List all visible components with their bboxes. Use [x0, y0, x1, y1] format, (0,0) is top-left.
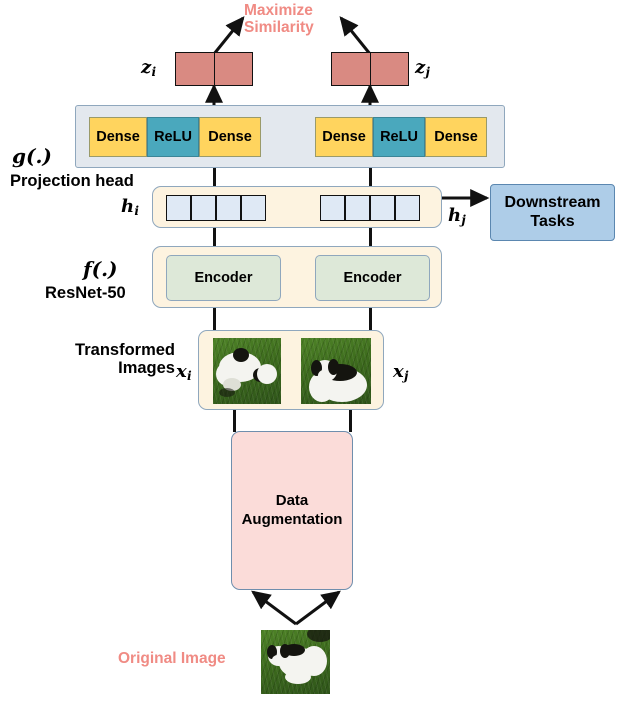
transformed-images-band: [198, 330, 384, 410]
line-image-to-aug-left: [233, 408, 236, 432]
zj-divider: [370, 53, 372, 85]
projection-left-dense-1-label: Dense: [96, 129, 140, 145]
projection-head-label-text: Projection head: [10, 172, 134, 190]
xi-fur-tail: [257, 364, 277, 384]
xi-subscript: i: [187, 369, 192, 383]
diagram-canvas: Maximize Similarity zi zj Dense ReLU Den…: [0, 0, 622, 701]
downstream-tasks-box[interactable]: Downstream Tasks: [490, 184, 615, 241]
maximize-similarity-label: Maximize Similarity: [244, 2, 354, 37]
encoder-symbol-text: f(.): [83, 257, 118, 281]
encoder-left-label: Encoder: [194, 270, 252, 286]
zi-symbol: z: [141, 57, 151, 78]
encoder-right: Encoder: [315, 255, 430, 301]
projection-right-dense-2-label: Dense: [434, 129, 478, 145]
encoder-band: Encoder Encoder: [152, 246, 442, 308]
original-fur-legs: [285, 670, 311, 684]
hi-subscript: i: [134, 204, 139, 218]
xj-fur-muzzle: [318, 370, 330, 381]
transformed-image-xi: [213, 338, 281, 404]
zj-subscript: j: [426, 65, 430, 79]
projection-head-symbol-text: g(.): [12, 144, 52, 168]
zj-symbol: z: [415, 57, 425, 78]
projection-left-relu: ReLU: [147, 117, 199, 157]
projection-head-label: Projection head: [10, 172, 134, 190]
transformed-image-label-xi: xi: [176, 362, 192, 384]
representation-label-hj: hj: [448, 206, 466, 228]
hj-cell-2: [345, 195, 370, 221]
projection-left-relu-label: ReLU: [154, 129, 192, 145]
data-augmentation-line1: Data: [276, 492, 309, 511]
projection-right-dense-1: Dense: [315, 117, 373, 157]
xi-fur-shadow: [219, 388, 235, 397]
projection-left-dense-1: Dense: [89, 117, 147, 157]
hj-cell-1: [320, 195, 345, 221]
zi-subscript: i: [152, 65, 157, 79]
arrow-original-to-aug-right: [296, 592, 339, 624]
transformed-image-label-xj: xj: [393, 362, 408, 384]
downstream-tasks-line1: Downstream: [504, 194, 600, 213]
hj-subscript: j: [461, 213, 465, 227]
maximize-similarity-line2: Similarity: [244, 19, 354, 36]
arrow-zi-to-similarity: [214, 18, 243, 54]
xj-fur-ear-right: [328, 359, 339, 375]
embedding-label-zj: zj: [415, 58, 430, 80]
line-image-to-aug-right: [349, 408, 352, 432]
embedding-label-zi: zi: [141, 58, 156, 80]
arrow-original-to-aug-left: [253, 592, 296, 624]
hj-cell-4: [395, 195, 420, 221]
projection-right-dense-1-label: Dense: [322, 129, 366, 145]
projection-left-dense-2-label: Dense: [208, 129, 252, 145]
xi-fur-patch-1: [233, 348, 249, 362]
projection-head-symbol: g(.): [12, 145, 52, 167]
encoder-label: ResNet-50: [45, 284, 126, 302]
data-augmentation-box: Data Augmentation: [231, 431, 353, 590]
hi-cell-2: [191, 195, 216, 221]
hj-symbol: h: [448, 205, 461, 226]
encoder-symbol: f(.): [83, 258, 118, 280]
transformed-images-line2: Images: [30, 359, 175, 377]
xj-subscript: j: [404, 369, 408, 383]
data-augmentation-line2: Augmentation: [242, 511, 343, 530]
downstream-tasks-line2: Tasks: [530, 213, 574, 232]
original-fur-muzzle: [272, 655, 283, 665]
representation-band: [152, 186, 442, 228]
transformed-image-xj: [301, 338, 371, 404]
encoder-right-label: Encoder: [343, 270, 401, 286]
hi-cell-3: [216, 195, 241, 221]
original-image-label-text: Original Image: [118, 650, 226, 667]
hj-cell-3: [370, 195, 395, 221]
embedding-box-zi: [175, 52, 253, 86]
transformed-images-line1: Transformed: [30, 341, 175, 359]
embedding-box-zj: [331, 52, 409, 86]
projection-left-dense-2: Dense: [199, 117, 261, 157]
xi-symbol: x: [176, 361, 187, 382]
xj-symbol: x: [393, 361, 404, 382]
original-image: [261, 630, 330, 694]
encoder-left: Encoder: [166, 255, 281, 301]
zi-divider: [214, 53, 216, 85]
original-image-label: Original Image: [118, 650, 226, 667]
projection-head-container: Dense ReLU Dense Dense ReLU Dense: [75, 105, 505, 168]
transformed-images-label: Transformed Images: [30, 341, 175, 378]
hi-symbol: h: [121, 196, 134, 217]
hi-cell-1: [166, 195, 191, 221]
projection-right-relu: ReLU: [373, 117, 425, 157]
maximize-similarity-line1: Maximize: [244, 2, 354, 19]
projection-right-relu-label: ReLU: [380, 129, 418, 145]
projection-right-dense-2: Dense: [425, 117, 487, 157]
encoder-label-text: ResNet-50: [45, 284, 126, 302]
representation-label-hi: hi: [121, 197, 139, 219]
hi-cell-4: [241, 195, 266, 221]
